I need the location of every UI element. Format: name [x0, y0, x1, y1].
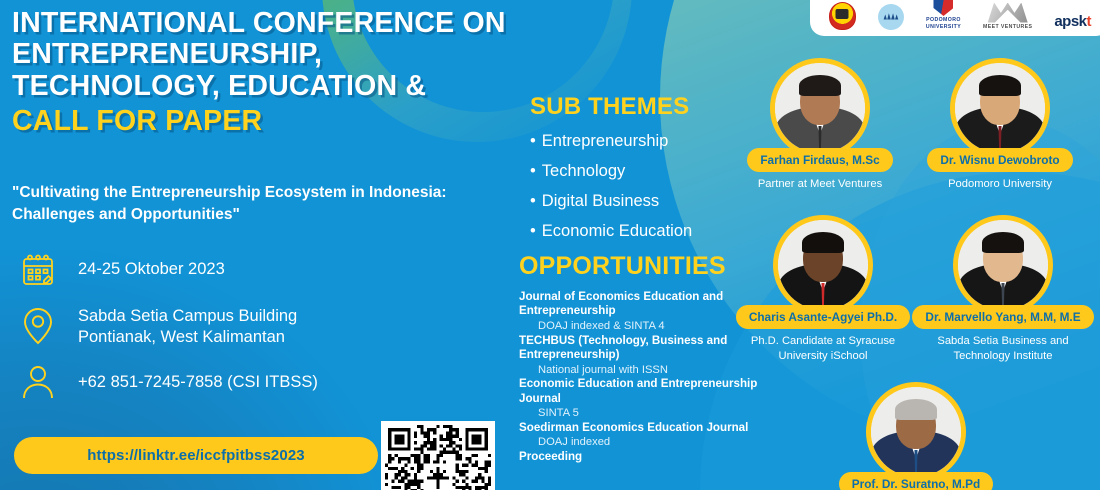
crest-logo	[829, 2, 856, 30]
speaker-affiliation: Sabda Setia Business and Technology Inst…	[923, 334, 1083, 363]
apskt-logo: apskt	[1054, 13, 1091, 30]
registration-link-button[interactable]: https://linktr.ee/iccfpitbss2023	[14, 437, 378, 474]
avatar-hair	[979, 75, 1021, 96]
speaker-card: Prof. Dr. Suratno, M.Pd	[866, 382, 966, 490]
headline-line-1: INTERNATIONAL CONFERENCE ON	[12, 8, 532, 39]
avatar-hair	[982, 232, 1024, 253]
avatar-hair	[799, 75, 841, 96]
event-location-row: Sabda Setia Campus Building Pontianak, W…	[16, 304, 496, 348]
sub-themes-list: •Entrepreneurship•Technology•Digital Bus…	[530, 132, 760, 241]
sub-theme-label: Entrepreneurship	[542, 132, 669, 150]
conference-tagline: "Cultivating the Entrepreneurship Ecosys…	[12, 182, 482, 227]
speaker-name-badge: Dr. Marvello Yang, M.M, M.E	[912, 305, 1093, 329]
meet-ventures-logo: MEET VENTURES	[983, 3, 1032, 31]
event-contact-row: +62 851-7245-7858 (CSI ITBSS)	[16, 360, 496, 404]
sub-themes-section: SUB THEMES •Entrepreneurship•Technology•…	[530, 93, 760, 252]
opportunity-name: Soedirman Economics Education Journal	[519, 421, 784, 435]
crest-icon	[829, 2, 856, 30]
sub-theme-item: •Entrepreneurship	[530, 132, 760, 151]
qr-code-canvas	[385, 425, 491, 490]
person-icon	[16, 360, 60, 404]
headline-line-2: ENTREPRENEURSHIP,	[12, 39, 532, 70]
map-pin-icon	[16, 304, 60, 348]
speaker-card: Dr. Wisnu DewobrotoPodomoro University	[950, 58, 1050, 192]
sponsor-logo-bar: PODOMOROUNIVERSITY MEET VENTURES apskt	[810, 0, 1100, 36]
podomoro-logo: PODOMOROUNIVERSITY	[926, 0, 961, 30]
speaker-name-badge: Charis Asante-Agyei Ph.D.	[736, 305, 910, 329]
event-location-line-2: Pontianak, West Kalimantan	[78, 328, 285, 346]
event-date-row: 24-25 Oktober 2023	[16, 248, 496, 292]
opportunity-name: Economic Education and Entrepreneurship …	[519, 377, 784, 406]
opportunity-name: Proceeding	[519, 450, 784, 464]
podomoro-logo-label: PODOMOROUNIVERSITY	[926, 17, 961, 30]
speaker-name-badge: Prof. Dr. Suratno, M.Pd	[839, 472, 993, 490]
speaker-affiliation: Podomoro University	[920, 177, 1080, 192]
sub-theme-item: •Digital Business	[530, 192, 760, 211]
sub-theme-item: •Economic Education	[530, 222, 760, 241]
event-location-text: Sabda Setia Campus Building Pontianak, W…	[78, 306, 297, 348]
meet-ventures-logo-label: MEET VENTURES	[983, 24, 1032, 31]
speaker-card: Charis Asante-Agyei Ph.D.Ph.D. Candidate…	[773, 215, 873, 363]
speaker-name-badge: Farhan Firdaus, M.Sc	[747, 148, 892, 172]
opportunities-heading: OPPORTUNITIES	[519, 252, 784, 281]
registration-link-text: https://linktr.ee/iccfpitbss2023	[87, 447, 304, 464]
opportunity-index-note: SINTA 5	[538, 406, 784, 421]
shield-icon	[933, 0, 953, 16]
circle-logo	[878, 4, 904, 30]
avatar	[773, 215, 873, 315]
event-date-text: 24-25 Oktober 2023	[78, 259, 225, 280]
headline-line-3: TECHNOLOGY, EDUCATION &	[12, 71, 532, 102]
bullet-icon: •	[530, 192, 536, 210]
sub-theme-label: Digital Business	[542, 192, 659, 210]
sub-theme-item: •Technology	[530, 162, 760, 181]
meet-ventures-icon	[988, 3, 1028, 23]
avatar	[953, 215, 1053, 315]
speaker-affiliation: Ph.D. Candidate at Syracuse University i…	[743, 334, 903, 363]
opportunity-index-note: National journal with ISSN	[538, 363, 784, 378]
qr-code-icon[interactable]	[381, 421, 495, 490]
conference-poster: PODOMOROUNIVERSITY MEET VENTURES apskt I…	[0, 0, 1100, 490]
avatar	[770, 58, 870, 158]
calendar-icon	[16, 248, 60, 292]
bullet-icon: •	[530, 132, 536, 150]
bullet-icon: •	[530, 162, 536, 180]
sub-theme-label: Economic Education	[542, 222, 692, 240]
avatar-hair	[802, 232, 844, 253]
opportunity-index-note: DOAJ indexed	[538, 435, 784, 450]
event-location-line-1: Sabda Setia Campus Building	[78, 307, 297, 325]
avatar-hair	[895, 399, 937, 420]
headline-call-for-paper: CALL FOR PAPER	[12, 106, 532, 137]
avatar	[866, 382, 966, 482]
sub-theme-label: Technology	[542, 162, 625, 180]
sub-themes-heading: SUB THEMES	[530, 93, 760, 121]
page-title: INTERNATIONAL CONFERENCE ON ENTREPRENEUR…	[12, 8, 532, 137]
avatar	[950, 58, 1050, 158]
speaker-name-badge: Dr. Wisnu Dewobroto	[927, 148, 1072, 172]
apskt-wordmark: apskt	[1054, 13, 1091, 30]
event-details: 24-25 Oktober 2023 Sabda Setia Campus Bu…	[16, 248, 496, 416]
circle-emblem-icon	[878, 4, 904, 30]
event-contact-text: +62 851-7245-7858 (CSI ITBSS)	[78, 372, 318, 393]
speaker-affiliation: Partner at Meet Ventures	[740, 177, 900, 192]
speaker-card: Dr. Marvello Yang, M.M, M.ESabda Setia B…	[953, 215, 1053, 363]
bullet-icon: •	[530, 222, 536, 240]
speaker-card: Farhan Firdaus, M.ScPartner at Meet Vent…	[770, 58, 870, 192]
